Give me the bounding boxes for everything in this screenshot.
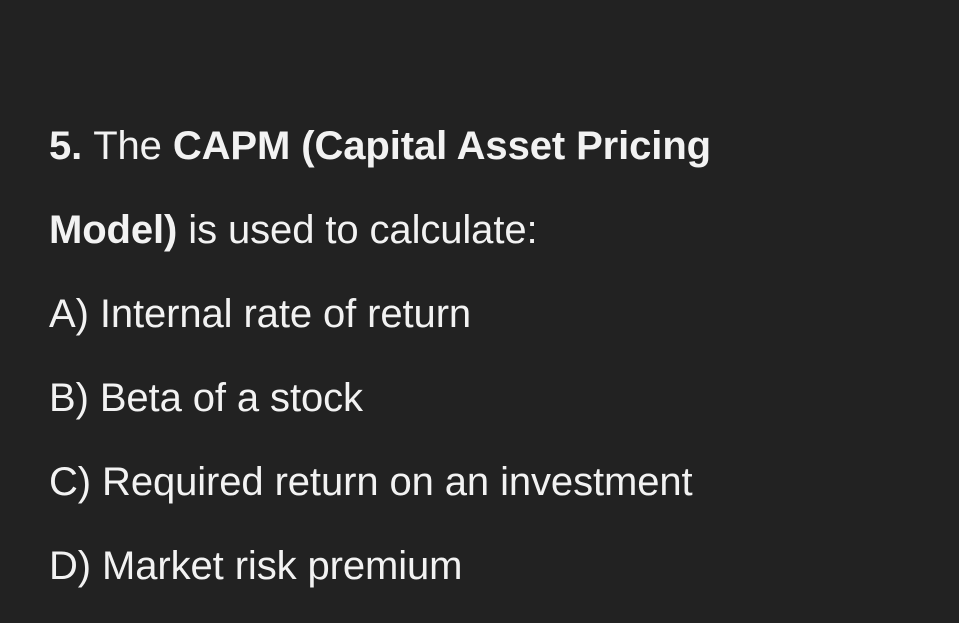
answer-option-d[interactable]: D) Market risk premium bbox=[49, 524, 919, 608]
quiz-question-card: 5. The CAPM (Capital Asset Pricing Model… bbox=[0, 0, 959, 623]
answer-option-b[interactable]: B) Beta of a stock bbox=[49, 356, 919, 440]
question-stem-lead bbox=[82, 124, 93, 168]
option-text-d: Market risk premium bbox=[102, 544, 462, 588]
option-text-c: Required return on an investment bbox=[102, 460, 692, 504]
question-stem-space-1 bbox=[162, 124, 173, 168]
answer-option-a[interactable]: A) Internal rate of return bbox=[49, 272, 919, 356]
option-label-c: C) bbox=[49, 460, 91, 504]
question-number: 5. bbox=[49, 124, 82, 168]
question-stem-after-term: is used to calculate: bbox=[188, 208, 537, 252]
question-stem-space-2 bbox=[177, 208, 188, 252]
question-stem: 5. The CAPM (Capital Asset Pricing Model… bbox=[49, 104, 869, 272]
option-text-a: Internal rate of return bbox=[100, 292, 471, 336]
answer-option-c[interactable]: C) Required return on an investment bbox=[49, 440, 919, 524]
option-label-b: B) bbox=[49, 376, 89, 420]
answer-options-list: A) Internal rate of return B) Beta of a … bbox=[49, 272, 919, 608]
option-label-a: A) bbox=[49, 292, 89, 336]
question-stem-before-term: The bbox=[93, 124, 162, 168]
option-text-b: Beta of a stock bbox=[100, 376, 363, 420]
option-label-d: D) bbox=[49, 544, 91, 588]
